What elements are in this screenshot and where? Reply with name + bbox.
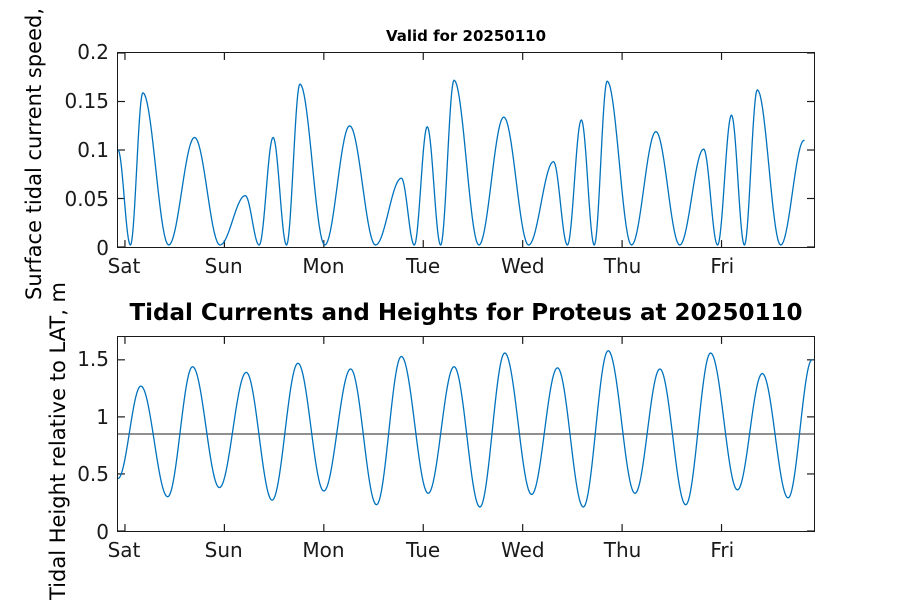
y-tick-label: 0 [11, 236, 109, 260]
x-tick-label: Sat [108, 254, 141, 278]
x-tick-label: Mon [302, 538, 344, 562]
chart-heights [117, 336, 815, 532]
x-tick-label: Tue [406, 538, 440, 562]
x-tick-label: Sat [108, 538, 141, 562]
y-axis-label-heights: Tidal Height relative to LAT, m [46, 282, 70, 600]
tidal-figure: Surface tidal current speed, knots Tidal… [0, 0, 900, 600]
x-tick-label: Fri [710, 254, 734, 278]
y-tick-label: 0.1 [11, 138, 109, 162]
x-tick-label: Thu [604, 538, 642, 562]
y-tick-label: 1.5 [11, 347, 109, 371]
x-tick-label: Tue [406, 254, 440, 278]
y-tick-label: 1 [11, 405, 109, 429]
page-title: Tidal Currents and Heights for Proteus a… [117, 300, 815, 326]
chart-currents [117, 52, 815, 248]
x-tick-label: Thu [604, 254, 642, 278]
x-tick-label: Wed [501, 538, 545, 562]
x-tick-label: Sun [205, 538, 243, 562]
currents-plot-svg [118, 53, 814, 247]
x-tick-label: Mon [302, 254, 344, 278]
y-tick-label: 0.5 [11, 462, 109, 486]
x-tick-label: Wed [501, 254, 545, 278]
heights-plot-svg [118, 337, 814, 531]
x-tick-label: Fri [710, 538, 734, 562]
x-tick-label: Sun [205, 254, 243, 278]
currents-subplot-title: Valid for 20250110 [117, 27, 815, 45]
y-tick-label: 0.2 [11, 40, 109, 64]
y-tick-label: 0.15 [11, 89, 109, 113]
y-tick-label: 0 [11, 520, 109, 544]
y-tick-label: 0.05 [11, 187, 109, 211]
